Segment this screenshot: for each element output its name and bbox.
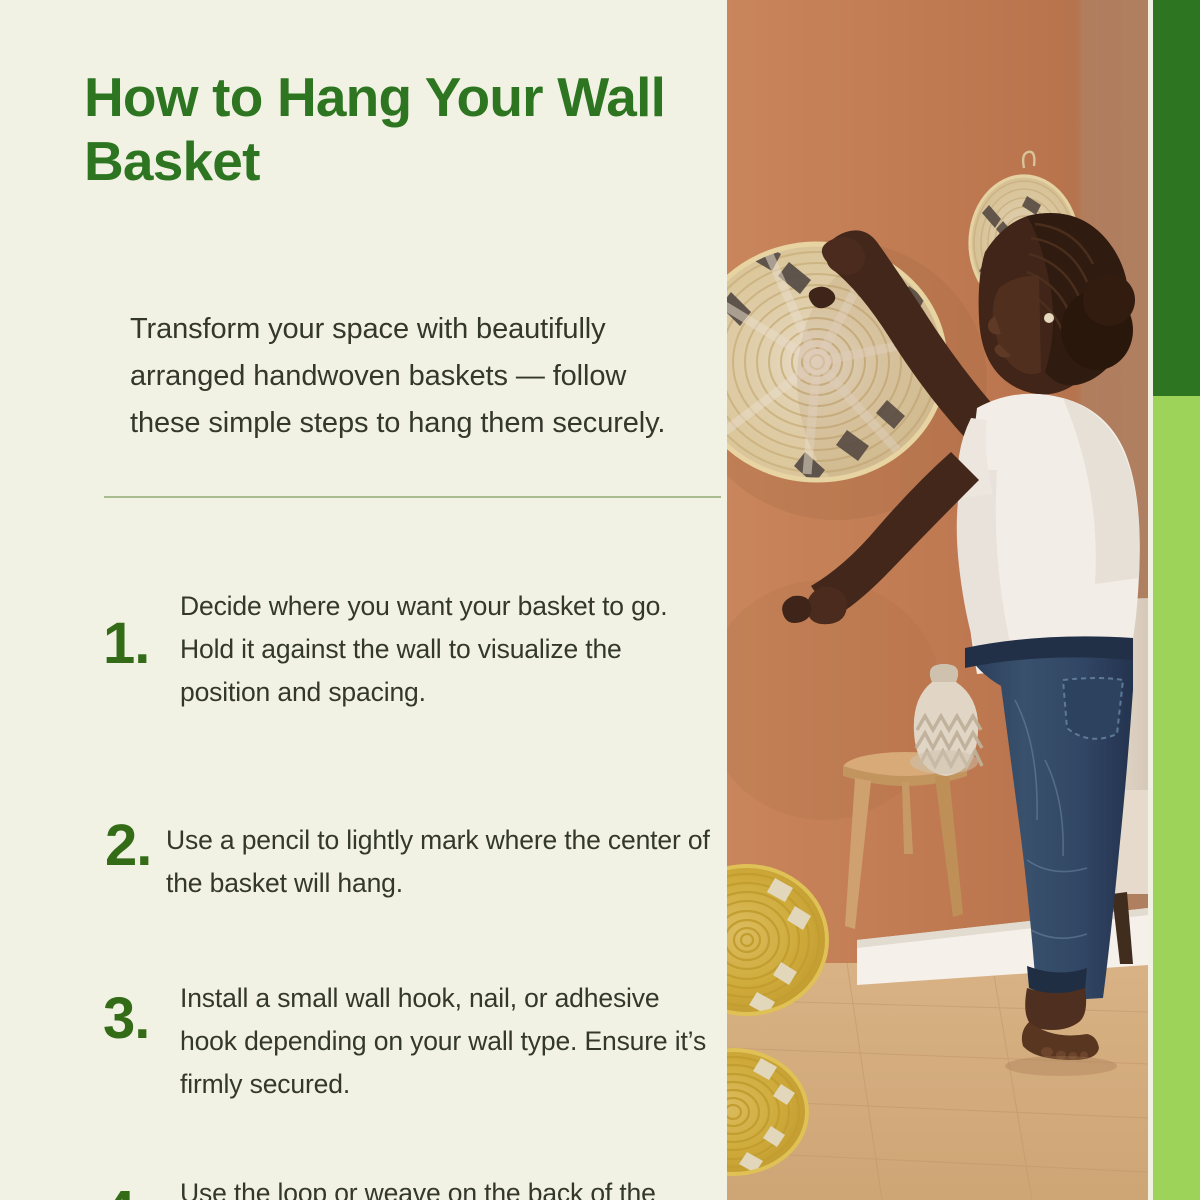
infographic-canvas: How to Hang Your Wall Basket Transform y… xyxy=(0,0,1200,1200)
photo-illustration xyxy=(727,0,1148,1200)
content-column: How to Hang Your Wall Basket Transform y… xyxy=(0,0,727,1200)
intro-paragraph: Transform your space with beautifully ar… xyxy=(130,306,690,447)
accent-bar-light-green xyxy=(1153,396,1200,1200)
step-item-4: 4. Use the loop or weave on the back of … xyxy=(0,755,727,815)
step-item-1: 1. Decide where you want your basket to … xyxy=(0,575,727,635)
page-title: How to Hang Your Wall Basket xyxy=(84,66,704,194)
step-number-4: 4. xyxy=(103,1183,149,1200)
step-item-2: 2. Use a pencil to lightly mark where th… xyxy=(0,635,727,695)
step-text-2: Use a pencil to lightly mark where the c… xyxy=(166,819,716,905)
step-text-4: Use the loop or weave on the back of the… xyxy=(180,1172,725,1200)
step-number-3: 3. xyxy=(103,990,149,1048)
step-text-3: Install a small wall hook, nail, or adhe… xyxy=(180,977,715,1107)
steps-list: 1. Decide where you want your basket to … xyxy=(0,575,727,815)
accent-bar-dark-green xyxy=(1153,0,1200,396)
step-number-2: 2. xyxy=(105,817,151,875)
step-item-3: 3. Install a small wall hook, nail, or a… xyxy=(0,695,727,755)
photo-panel xyxy=(727,0,1148,1200)
section-divider xyxy=(104,496,721,498)
